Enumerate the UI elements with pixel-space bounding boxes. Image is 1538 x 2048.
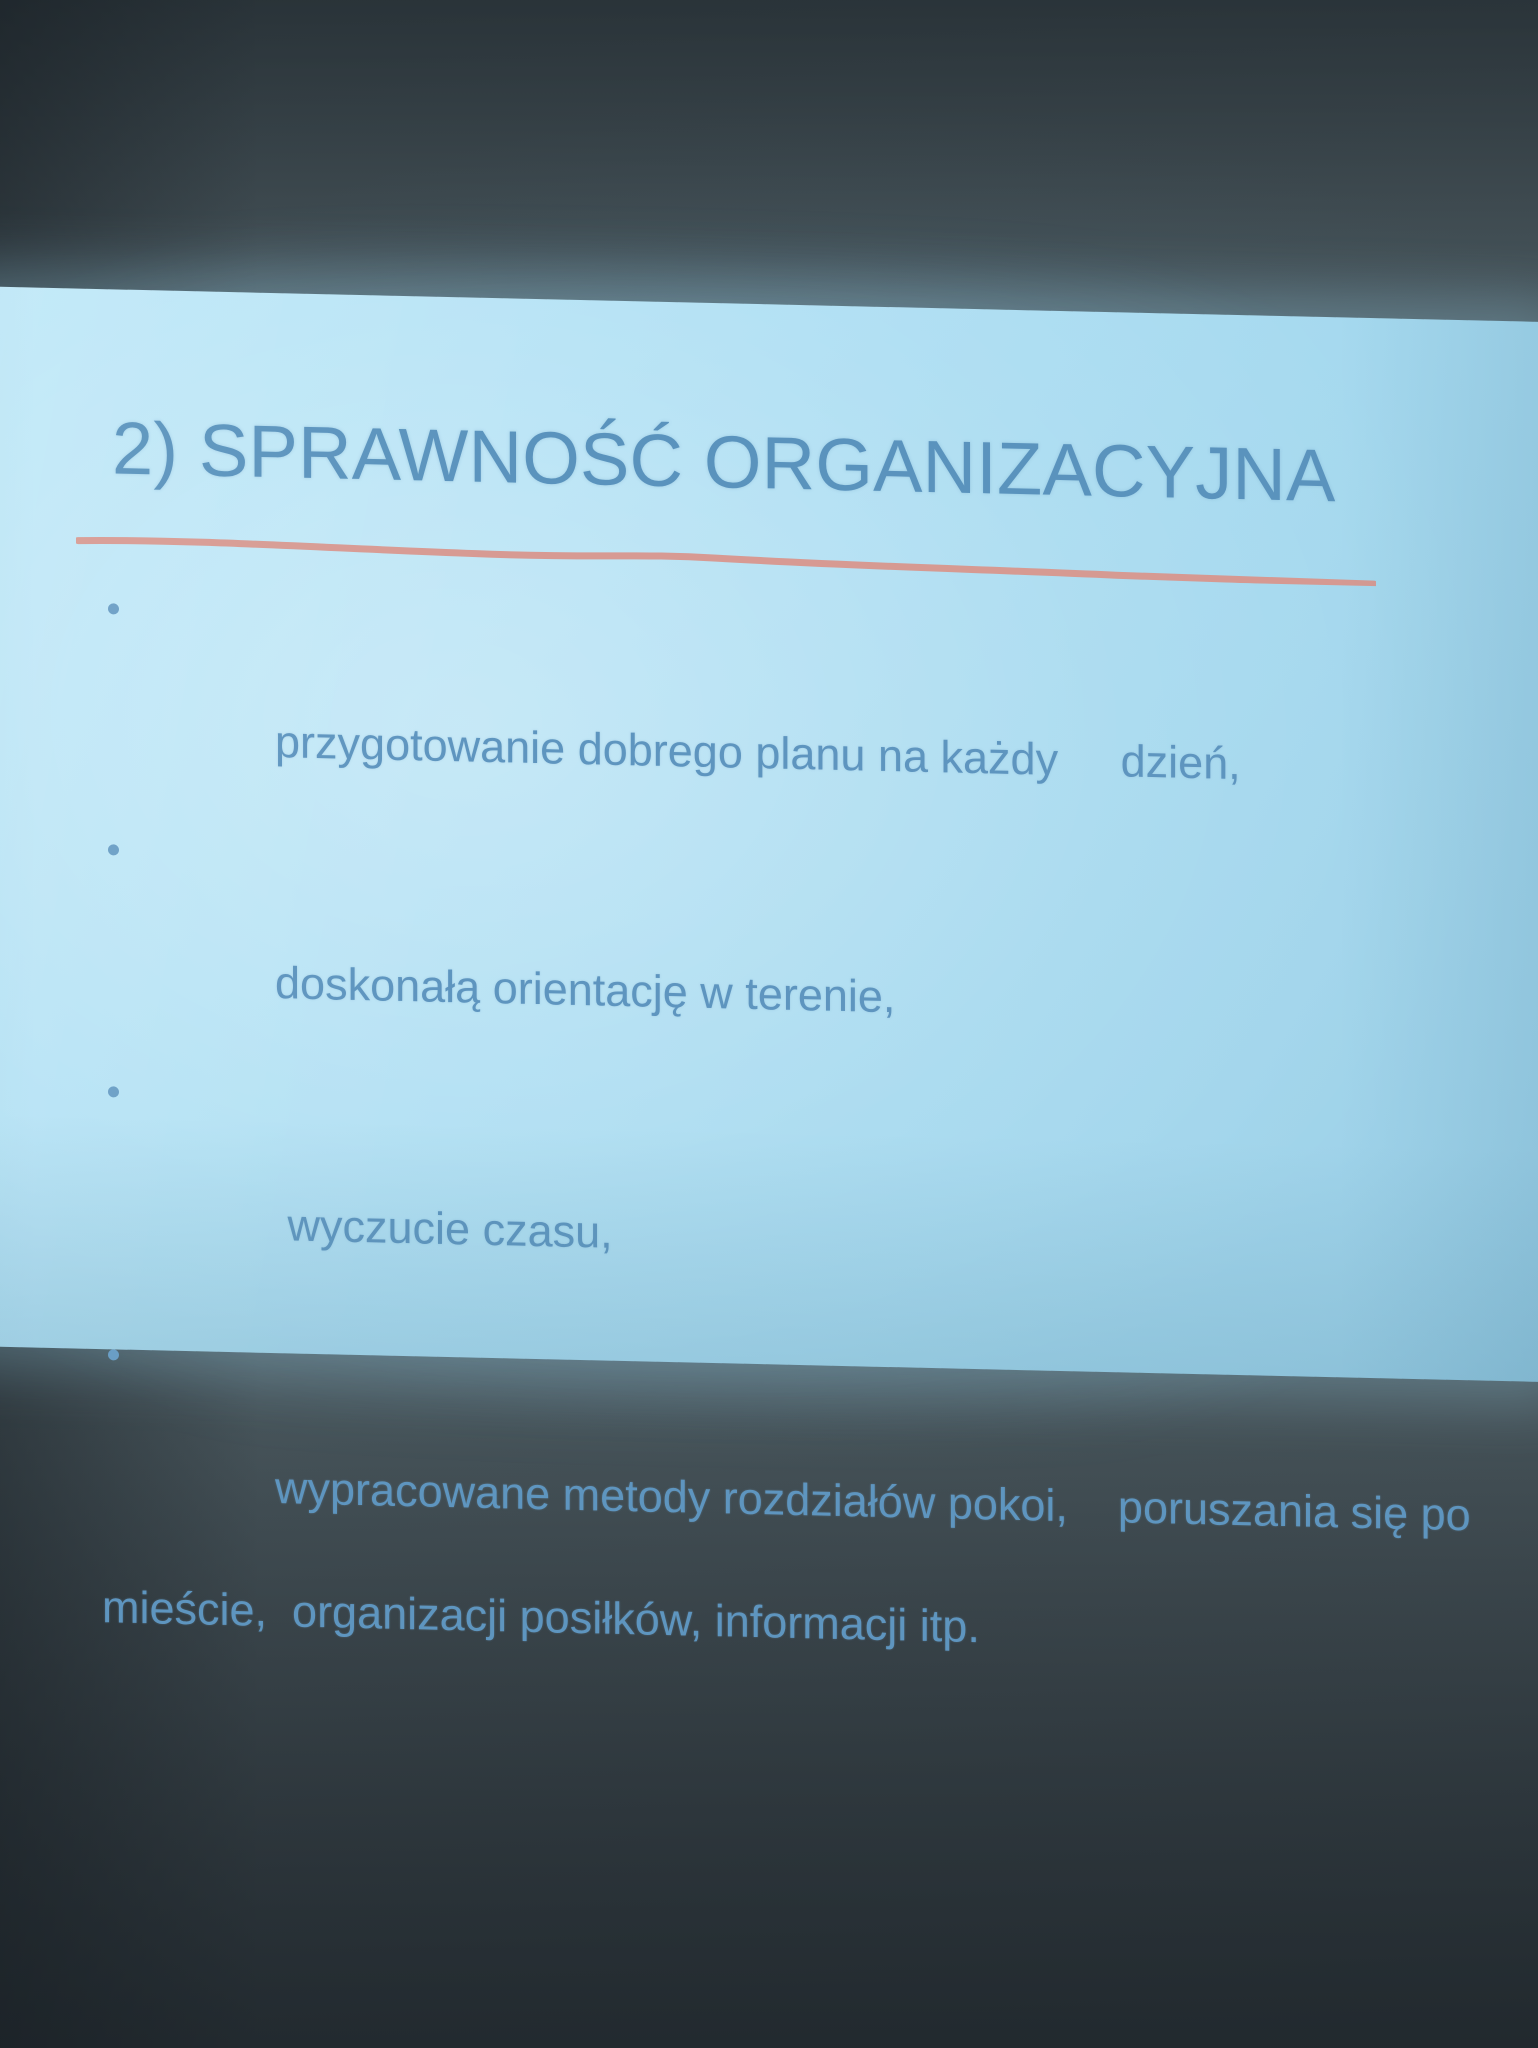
projected-slide: 2) SPRAWNOŚĆ ORGANIZACYJNA przygotowanie… [0,282,1538,1382]
bullet-list: przygotowanie dobrego planu na każdy dzi… [102,589,1502,1669]
slide-content: 2) SPRAWNOŚĆ ORGANIZACYJNA przygotowanie… [0,282,1538,1382]
list-item-text: doskonałą orientację w terenie, [275,957,895,1022]
bullet-dot-icon [108,1349,119,1360]
bullet-dot-icon [108,844,119,855]
list-item: wypracowane metody rozdziałów pokoi, por… [102,1336,1502,1605]
list-item: doskonałą orientację w terenie, [102,831,1502,1100]
slide-title: 2) SPRAWNOŚĆ ORGANIZACYJNA [112,409,1232,512]
bullet-dot-icon [108,1086,119,1097]
list-item-text: wyczucie czasu, [275,1199,613,1258]
list-item: wyczucie czasu, [102,1072,1502,1341]
bullet-dot-icon [108,603,119,614]
screenshot-stage: 2) SPRAWNOŚĆ ORGANIZACYJNA przygotowanie… [0,0,1538,2048]
list-item: przygotowanie dobrego planu na każdy dzi… [102,589,1502,858]
list-item-text: przygotowanie dobrego planu na każdy dzi… [275,716,1241,789]
title-underline-rule [76,535,1376,587]
list-item-text: wypracowane metody rozdziałów pokoi, por… [275,1463,1471,1541]
